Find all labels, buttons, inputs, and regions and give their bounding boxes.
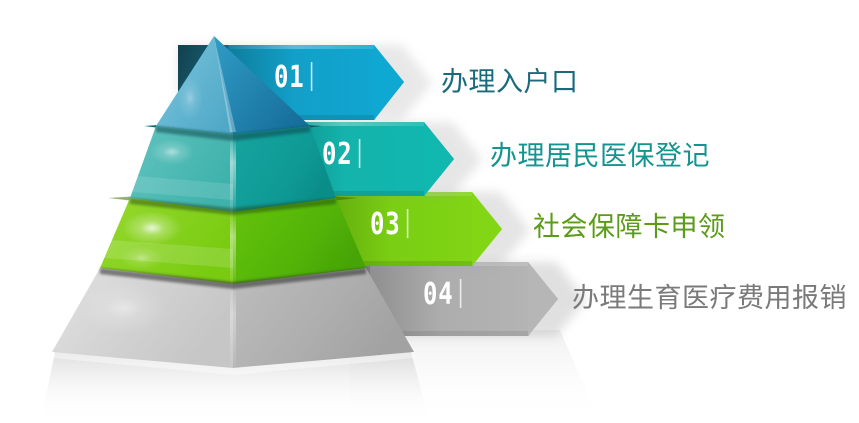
row-label-03: 社会保障卡申领 [533,205,726,244]
pyramid-infographic: 01 02 03 04 办理入户口 办理居民医保登记 社会保障卡申领 办理生育医… [0,0,859,423]
row-number-01: 01 [274,60,313,95]
row-number-04: 04 [423,277,462,312]
row-number-02: 02 [322,137,361,172]
number-divider-02 [359,139,361,168]
row-label-04: 办理生育医疗费用报销 [572,276,847,315]
number-divider-04 [460,279,462,308]
number-divider-03 [407,209,409,238]
row-label-01: 办理入户口 [441,60,579,99]
pyramid-diagram-canvas [0,0,859,423]
number-divider-01 [311,62,313,91]
row-label-02: 办理居民医保登记 [490,134,710,173]
row-number-03: 03 [370,207,409,242]
